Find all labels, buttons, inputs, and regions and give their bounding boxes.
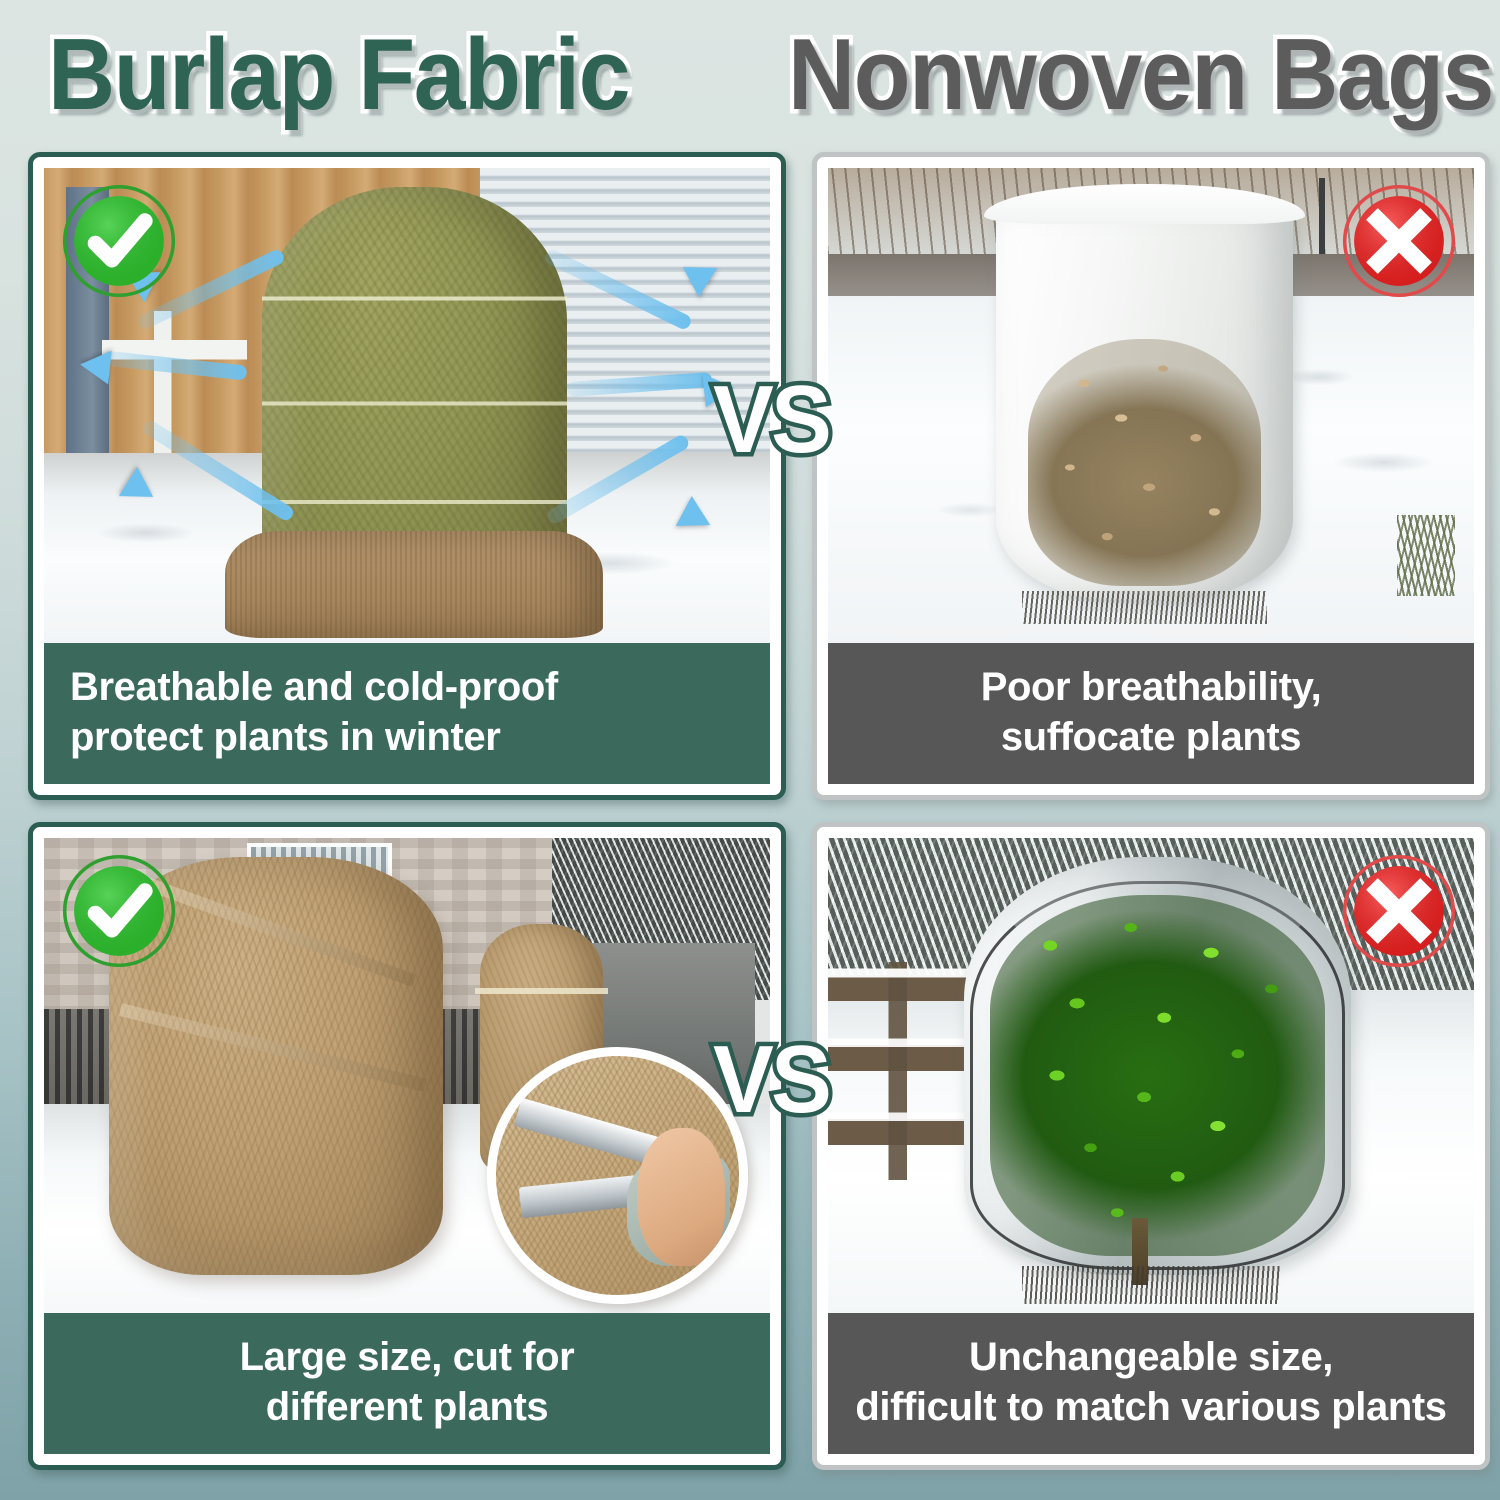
check-badge-icon [60, 182, 178, 300]
photo-undersized-bag-boxwood [828, 838, 1474, 1313]
x-badge-icon [1340, 852, 1458, 970]
photo-burlap-cut-to-size [44, 838, 770, 1313]
airflow-arrow-icon [79, 347, 112, 384]
vs-label-top: VS [713, 372, 829, 468]
panel-bottom-left: Large size, cut for different plants [28, 822, 786, 1470]
green-boxwood-shrub [990, 895, 1326, 1256]
bag-base-fringe [1022, 591, 1267, 624]
scissors-cutting-burlap-inset [487, 1047, 748, 1304]
caption-bottom-left: Large size, cut for different plants [44, 1313, 770, 1454]
title-row: Burlap Fabric Nonwoven Bags [0, 0, 1500, 148]
hand-holding-scissors [637, 1128, 725, 1266]
bag-base-fringe [1022, 1266, 1280, 1304]
metal-pole [1319, 178, 1325, 254]
title-burlap-fabric: Burlap Fabric [48, 10, 629, 140]
ornamental-grass-tuft [1397, 515, 1455, 596]
panel-top-right: Poor breathability, suffocate plants [812, 152, 1490, 800]
photo-burlap-wrapped-shrub-winter [44, 168, 770, 643]
panel-bottom-right: Unchangeable size, difficult to match va… [812, 822, 1490, 1470]
panel-top-left: Breathable and cold-proof protect plants… [28, 152, 786, 800]
caption-top-left: Breathable and cold-proof protect plants… [44, 643, 770, 784]
vs-label-bottom: VS [713, 1032, 829, 1128]
photo-nonwoven-bag-suffocated-shrub [828, 168, 1474, 643]
caption-bottom-right: Unchangeable size, difficult to match va… [828, 1313, 1474, 1454]
x-badge-icon [1340, 182, 1458, 300]
check-badge-icon [60, 852, 178, 970]
burlap-wrapped-plant [262, 187, 567, 634]
title-nonwoven-bags: Nonwoven Bags [788, 10, 1493, 140]
caption-top-right: Poor breathability, suffocate plants [828, 643, 1474, 784]
browned-dead-shrub [1028, 339, 1261, 586]
